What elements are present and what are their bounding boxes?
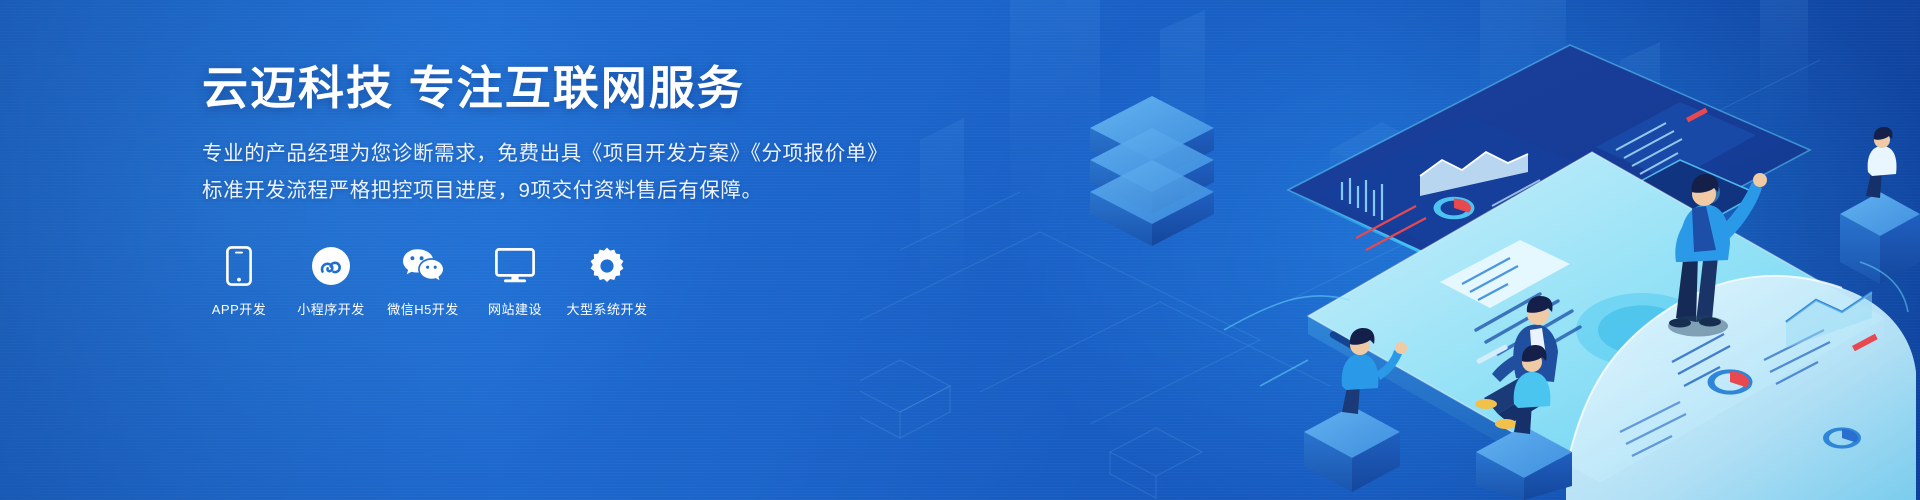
- service-label: 微信H5开发: [387, 299, 459, 318]
- server-stack-cubes: [1090, 96, 1214, 246]
- service-item-app[interactable]: APP开发: [202, 243, 276, 318]
- service-label: 大型系统开发: [567, 299, 648, 318]
- hero-illustration: [880, 0, 1920, 500]
- service-item-wechat[interactable]: 微信H5开发: [386, 243, 460, 318]
- page-title: 云迈科技 专注互联网服务: [202, 60, 962, 116]
- service-label: APP开发: [212, 299, 267, 318]
- mini-program-icon: [311, 243, 351, 289]
- subtitle-line-2: 标准开发流程严格把控项目进度，9项交付资料售后有保障。: [202, 173, 962, 209]
- gear-icon: [587, 243, 627, 289]
- banner-content: 云迈科技 专注互联网服务 专业的产品经理为您诊断需求，免费出具《项目开发方案》《…: [202, 60, 962, 318]
- service-label: 小程序开发: [297, 299, 365, 318]
- mobile-phone-icon: [226, 243, 252, 289]
- service-item-website[interactable]: 网站建设: [478, 243, 552, 318]
- subtitle-line-1: 专业的产品经理为您诊断需求，免费出具《项目开发方案》《分项报价单》: [202, 136, 962, 172]
- service-item-system[interactable]: 大型系统开发: [570, 243, 644, 318]
- person-on-cube-right: [1840, 127, 1920, 284]
- wechat-icon: [401, 243, 445, 289]
- subtitle-block: 专业的产品经理为您诊断需求，免费出具《项目开发方案》《分项报价单》 标准开发流程…: [202, 136, 962, 209]
- service-item-miniprogram[interactable]: 小程序开发: [294, 243, 368, 318]
- service-list: APP开发 小程序开发: [202, 243, 962, 318]
- service-label: 网站建设: [488, 299, 542, 318]
- hero-banner: 云迈科技 专注互联网服务 专业的产品经理为您诊断需求，免费出具《项目开发方案》《…: [0, 0, 1920, 500]
- monitor-icon: [495, 243, 535, 289]
